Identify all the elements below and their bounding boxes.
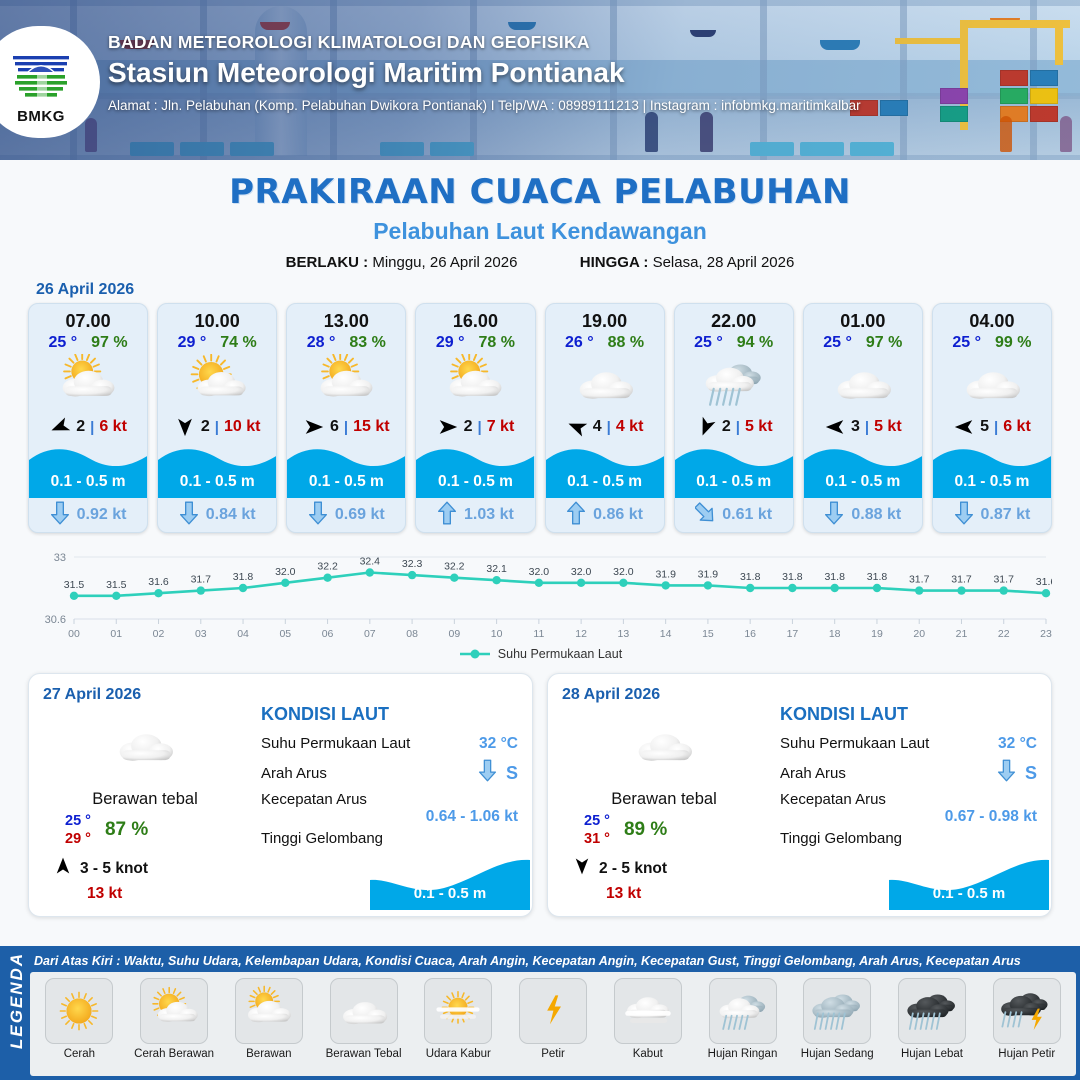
card-wave-height: 0.1 - 0.5 m: [804, 473, 922, 491]
page-subtitle: Pelabuhan Laut Kendawangan: [0, 218, 1080, 245]
sunny-icon: [45, 978, 113, 1044]
card-wave: 0.1 - 0.5 m: [158, 442, 276, 498]
svg-text:16: 16: [744, 628, 756, 640]
card-wind-speed: 2: [76, 418, 85, 436]
card-wind-speed: 3: [851, 418, 860, 436]
sea-row-label: Tinggi Gelombang: [780, 830, 902, 847]
sea-row: Tinggi Gelombang: [780, 826, 1037, 850]
current-direction-arrow-icon: [308, 500, 328, 531]
current-direction-arrow-icon: [50, 500, 70, 531]
svg-text:31.8: 31.8: [867, 571, 888, 583]
sea-row-label: Kecepatan Arus: [780, 791, 886, 808]
daily-summary-card: 28 April 2026 Berawan tebal 25 ° 31 ° 89…: [547, 673, 1052, 917]
forecast-day-label: 26 April 2026: [36, 281, 1080, 299]
wind-direction-arrow-icon: [437, 416, 459, 438]
separator: |: [865, 419, 869, 436]
card-gust: 5 kt: [874, 418, 902, 436]
svg-text:31.7: 31.7: [993, 574, 1014, 586]
sea-row-value: 0.64 - 1.06 kt: [261, 808, 518, 826]
legend-item-label: Cerah Berawan: [134, 1048, 214, 1060]
wind-direction-arrow-icon: [303, 416, 325, 438]
svg-text:31.9: 31.9: [655, 568, 676, 580]
svg-text:14: 14: [660, 628, 672, 640]
partly-cloudy-icon: [29, 354, 147, 412]
card-wave: 0.1 - 0.5 m: [546, 442, 664, 498]
daily-temp-min: 25 °: [65, 812, 91, 830]
current-direction-arrow-icon: [437, 500, 457, 531]
card-wave-height: 0.1 - 0.5 m: [546, 473, 664, 491]
legend-item-label: Cerah: [64, 1048, 95, 1060]
card-humidity: 83 %: [349, 334, 385, 352]
forecast-card: 22.00 25 ° 94 % 2 | 5 kt: [674, 303, 794, 533]
chart-legend-label: Suhu Permukaan Laut: [498, 647, 622, 661]
card-wind-speed: 2: [464, 418, 473, 436]
sea-row-label: Tinggi Gelombang: [261, 830, 383, 847]
current-direction-arrow-icon: [824, 500, 844, 531]
card-wind-speed: 2: [722, 418, 731, 436]
down-arrow-icon: [478, 758, 497, 788]
legend-item: Berawan: [221, 978, 316, 1060]
card-current-speed: 0.61 kt: [722, 506, 772, 524]
svg-text:33: 33: [54, 552, 66, 564]
svg-text:04: 04: [237, 628, 249, 640]
svg-text:20: 20: [913, 628, 925, 640]
sea-row-label: Arah Arus: [780, 765, 846, 782]
legend-item-label: Hujan Petir: [998, 1048, 1055, 1060]
svg-text:32.3: 32.3: [402, 558, 423, 570]
svg-text:03: 03: [195, 628, 207, 640]
page-title: PRAKIRAAN CUACA PELABUHAN: [0, 172, 1080, 212]
legend-item: Hujan Ringan: [695, 978, 790, 1060]
legend-note: Dari Atas Kiri : Waktu, Suhu Udara, Kele…: [30, 949, 1076, 972]
svg-text:21: 21: [956, 628, 968, 640]
legend-item-label: Hujan Sedang: [801, 1048, 874, 1060]
legend-item: Berawan Tebal: [316, 978, 411, 1060]
forecast-card-row: 07.00 25 ° 97 % 2 | 6 kt: [0, 303, 1080, 533]
svg-text:02: 02: [153, 628, 165, 640]
chart-legend: Suhu Permukaan Laut: [0, 647, 1080, 661]
card-humidity: 97 %: [866, 334, 902, 352]
validity-line: BERLAKU : Minggu, 26 April 2026 HINGGA :…: [0, 254, 1080, 271]
daily-wave: 0.1 - 0.5 m: [889, 858, 1049, 910]
legend-item-label: Udara Kabur: [426, 1048, 491, 1060]
card-wind-speed: 5: [980, 418, 989, 436]
separator: |: [607, 419, 611, 436]
svg-text:32.2: 32.2: [444, 561, 465, 573]
daily-date: 28 April 2026: [562, 686, 1037, 704]
card-temperature: 25 °: [49, 334, 78, 352]
card-humidity: 88 %: [608, 334, 644, 352]
bmkg-logo-label: BMKG: [17, 108, 65, 125]
card-wave-height: 0.1 - 0.5 m: [287, 473, 405, 491]
rain-icon: [675, 354, 793, 412]
card-gust: 4 kt: [616, 418, 644, 436]
daily-gust: 13 kt: [87, 885, 245, 903]
sea-row-label: Arah Arus: [261, 765, 327, 782]
banner-text-block: BADAN METEOROLOGI KLIMATOLOGI DAN GEOFIS…: [108, 32, 861, 113]
card-gust: 15 kt: [353, 418, 389, 436]
valid-to-value: Selasa, 28 April 2026: [653, 254, 795, 271]
org-name: BADAN METEOROLOGI KLIMATOLOGI DAN GEOFIS…: [108, 32, 861, 53]
forecast-card: 19.00 26 ° 88 % 4 | 4 kt: [545, 303, 665, 533]
svg-text:12: 12: [575, 628, 587, 640]
partly-cloudy-icon: [287, 354, 405, 412]
card-gust: 7 kt: [487, 418, 515, 436]
station-address: Alamat : Jln. Pelabuhan (Komp. Pelabuhan…: [108, 98, 861, 113]
card-humidity: 94 %: [737, 334, 773, 352]
bmkg-logo-mark: [7, 39, 75, 107]
light-rain-icon: [709, 978, 777, 1044]
svg-text:06: 06: [322, 628, 334, 640]
title-block: PRAKIRAAN CUACA PELABUHAN Pelabuhan Laut…: [0, 160, 1080, 271]
forecast-card: 13.00 28 ° 83 % 6 | 15 kt: [286, 303, 406, 533]
svg-text:08: 08: [406, 628, 418, 640]
card-current-speed: 0.92 kt: [77, 506, 127, 524]
card-current-speed: 0.87 kt: [981, 506, 1031, 524]
daily-condition: Berawan tebal: [45, 790, 245, 809]
wind-direction-arrow-icon: [53, 856, 73, 881]
svg-text:31.9: 31.9: [698, 568, 719, 580]
partly-cloudy-icon: [235, 978, 303, 1044]
sea-row-value: 32 °C: [479, 735, 518, 753]
card-wave: 0.1 - 0.5 m: [804, 442, 922, 498]
cloudy-icon: [804, 354, 922, 412]
daily-temp-min: 25 °: [584, 812, 610, 830]
svg-text:31.8: 31.8: [824, 571, 845, 583]
sea-row: Arah Arus S: [261, 758, 518, 788]
card-wave-height: 0.1 - 0.5 m: [158, 473, 276, 491]
daily-wind: 2 - 5 knot: [599, 860, 667, 878]
daily-humidity: 87 %: [105, 819, 148, 841]
card-wave: 0.1 - 0.5 m: [416, 442, 534, 498]
fog-icon: [614, 978, 682, 1044]
card-time: 04.00: [933, 304, 1051, 333]
daily-date: 27 April 2026: [43, 686, 518, 704]
card-humidity: 99 %: [995, 334, 1031, 352]
card-wave: 0.1 - 0.5 m: [933, 442, 1051, 498]
current-direction-arrow-icon: [179, 500, 199, 531]
cloudy-icon: [933, 354, 1051, 412]
svg-text:31.5: 31.5: [64, 579, 85, 591]
sea-row-label: Kecepatan Arus: [261, 791, 367, 808]
svg-text:32.1: 32.1: [486, 563, 507, 575]
card-time: 13.00: [287, 304, 405, 333]
card-wave: 0.1 - 0.5 m: [287, 442, 405, 498]
card-wave: 0.1 - 0.5 m: [29, 442, 147, 498]
sea-row: Arah Arus S: [780, 758, 1037, 788]
mostly-sunny-icon: [158, 354, 276, 412]
legend-item-label: Hujan Lebat: [901, 1048, 963, 1060]
valid-from-label: BERLAKU :: [286, 254, 369, 271]
card-time: 22.00: [675, 304, 793, 333]
legend-item: Hujan Lebat: [885, 978, 980, 1060]
forecast-card: 04.00 25 ° 99 % 5 | 6 kt: [932, 303, 1052, 533]
card-temperature: 25 °: [823, 334, 852, 352]
legend-side-tab: LEGENDA: [0, 946, 30, 1080]
cloudy-icon: [45, 716, 245, 774]
sea-row: Kecepatan Arus 0.67 - 0.98 kt: [780, 788, 1037, 826]
legend-side-label: LEGENDA: [7, 959, 27, 1049]
daily-temp-max: 29 °: [65, 830, 91, 848]
wind-direction-arrow-icon: [824, 416, 846, 438]
moderate-rain-icon: [803, 978, 871, 1044]
forecast-card: 10.00 29 ° 74 % 2 | 10 kt: [157, 303, 277, 533]
daily-summary-row: 27 April 2026 Berawan tebal 25 ° 29 ° 87…: [0, 661, 1080, 917]
card-humidity: 97 %: [91, 334, 127, 352]
card-wind-speed: 2: [201, 418, 210, 436]
cloudy-icon: [330, 978, 398, 1044]
legend-item: Petir: [506, 978, 601, 1060]
svg-text:19: 19: [871, 628, 883, 640]
sea-condition-title: KONDISI LAUT: [780, 704, 1037, 725]
svg-text:30.6: 30.6: [45, 614, 66, 626]
svg-text:13: 13: [618, 628, 630, 640]
card-time: 07.00: [29, 304, 147, 333]
thunderstorm-icon: [993, 978, 1061, 1044]
wind-direction-arrow-icon: [572, 856, 592, 881]
card-wind-speed: 4: [593, 418, 602, 436]
svg-text:22: 22: [998, 628, 1010, 640]
svg-text:10: 10: [491, 628, 503, 640]
separator: |: [344, 419, 348, 436]
card-wave-height: 0.1 - 0.5 m: [416, 473, 534, 491]
card-time: 01.00: [804, 304, 922, 333]
sea-row-label: Suhu Permukaan Laut: [780, 735, 929, 752]
svg-text:11: 11: [533, 628, 544, 640]
svg-text:32.2: 32.2: [317, 561, 338, 573]
current-direction-arrow-icon: [954, 500, 974, 531]
legend-items: Cerah Cerah Berawan Be: [30, 972, 1076, 1076]
card-humidity: 74 %: [220, 334, 256, 352]
daily-summary-card: 27 April 2026 Berawan tebal 25 ° 29 ° 87…: [28, 673, 533, 917]
svg-text:31.7: 31.7: [191, 574, 212, 586]
current-direction-arrow-icon: [566, 500, 586, 531]
sea-row: Tinggi Gelombang: [261, 826, 518, 850]
svg-text:17: 17: [787, 628, 799, 640]
sea-row-label: Suhu Permukaan Laut: [261, 735, 410, 752]
card-temperature: 26 °: [565, 334, 594, 352]
legend-item-label: Berawan: [246, 1048, 291, 1060]
legend-item-label: Berawan Tebal: [326, 1048, 402, 1060]
svg-text:07: 07: [364, 628, 376, 640]
wind-direction-arrow-icon: [174, 416, 196, 438]
sst-chart: 3330.60001020304050607080910111213141516…: [28, 545, 1052, 645]
card-gust: 6 kt: [1003, 418, 1031, 436]
card-time: 19.00: [546, 304, 664, 333]
forecast-card: 07.00 25 ° 97 % 2 | 6 kt: [28, 303, 148, 533]
card-temperature: 29 °: [436, 334, 465, 352]
mostly-sunny-icon: [140, 978, 208, 1044]
wind-direction-arrow-icon: [695, 416, 717, 438]
sea-condition-title: KONDISI LAUT: [261, 704, 518, 725]
cloudy-icon: [546, 354, 664, 412]
sea-row: Suhu Permukaan Laut 32 °C: [261, 729, 518, 758]
card-current-speed: 0.84 kt: [206, 506, 256, 524]
wind-direction-arrow-icon: [953, 416, 975, 438]
svg-text:32.0: 32.0: [529, 566, 550, 578]
card-temperature: 28 °: [307, 334, 336, 352]
chart-legend-marker: [458, 648, 492, 660]
current-direction-arrow-icon: [695, 500, 715, 531]
card-current-speed: 0.88 kt: [851, 506, 901, 524]
daily-condition: Berawan tebal: [564, 790, 764, 809]
forecast-card: 01.00 25 ° 97 % 3 | 5 kt: [803, 303, 923, 533]
card-wave-height: 0.1 - 0.5 m: [675, 473, 793, 491]
svg-text:31.8: 31.8: [782, 571, 803, 583]
daily-wave: 0.1 - 0.5 m: [370, 858, 530, 910]
svg-text:01: 01: [110, 628, 122, 640]
card-current-speed: 1.03 kt: [464, 506, 514, 524]
card-wave-height: 0.1 - 0.5 m: [29, 473, 147, 491]
svg-text:31.6: 31.6: [148, 576, 169, 588]
down-arrow-icon: [997, 758, 1016, 788]
card-wave-height: 0.1 - 0.5 m: [933, 473, 1051, 491]
legend-item: Cerah: [32, 978, 127, 1060]
svg-text:18: 18: [829, 628, 841, 640]
svg-text:31.8: 31.8: [740, 571, 761, 583]
forecast-card: 16.00 29 ° 78 % 2 | 7 kt: [415, 303, 535, 533]
lightning-icon: [519, 978, 587, 1044]
sea-row-value: 32 °C: [998, 735, 1037, 753]
sea-row-value: 0.67 - 0.98 kt: [780, 808, 1037, 826]
sea-row: Kecepatan Arus 0.64 - 1.06 kt: [261, 788, 518, 826]
cloudy-icon: [564, 716, 764, 774]
sea-row-value: S: [1025, 763, 1037, 784]
legend-strip: LEGENDA Dari Atas Kiri : Waktu, Suhu Uda…: [0, 946, 1080, 1080]
station-name: Stasiun Meteorologi Maritim Pontianak: [108, 57, 861, 89]
svg-text:00: 00: [68, 628, 80, 640]
legend-item: Hujan Sedang: [790, 978, 885, 1060]
card-time: 10.00: [158, 304, 276, 333]
svg-text:32.4: 32.4: [360, 556, 381, 568]
card-gust: 5 kt: [745, 418, 773, 436]
wind-direction-arrow-icon: [566, 416, 588, 438]
separator: |: [994, 419, 998, 436]
card-gust: 6 kt: [99, 418, 127, 436]
valid-to-label: HINGGA :: [580, 254, 649, 271]
legend-item: Udara Kabur: [411, 978, 506, 1060]
svg-text:31.7: 31.7: [909, 574, 930, 586]
haze-icon: [424, 978, 492, 1044]
card-wave: 0.1 - 0.5 m: [675, 442, 793, 498]
daily-temp-max: 31 °: [584, 830, 610, 848]
svg-text:31.7: 31.7: [951, 574, 972, 586]
daily-wind: 3 - 5 knot: [80, 860, 148, 878]
separator: |: [736, 419, 740, 436]
svg-text:31.6: 31.6: [1036, 576, 1052, 588]
separator: |: [478, 419, 482, 436]
card-gust: 10 kt: [224, 418, 260, 436]
svg-text:05: 05: [279, 628, 291, 640]
legend-item: Hujan Petir: [979, 978, 1074, 1060]
card-wind-speed: 6: [330, 418, 339, 436]
daily-wave-height: 0.1 - 0.5 m: [370, 885, 530, 902]
card-current-speed: 0.69 kt: [335, 506, 385, 524]
daily-humidity: 89 %: [624, 819, 667, 841]
sea-row-value: S: [506, 763, 518, 784]
card-temperature: 25 °: [694, 334, 723, 352]
separator: |: [90, 419, 94, 436]
card-current-speed: 0.86 kt: [593, 506, 643, 524]
svg-text:31.8: 31.8: [233, 571, 254, 583]
legend-item-label: Petir: [541, 1048, 565, 1060]
header-banner: BMKG BADAN METEOROLOGI KLIMATOLOGI DAN G…: [0, 0, 1080, 160]
card-time: 16.00: [416, 304, 534, 333]
card-humidity: 78 %: [479, 334, 515, 352]
separator: |: [215, 419, 219, 436]
svg-text:15: 15: [702, 628, 714, 640]
svg-text:09: 09: [449, 628, 461, 640]
svg-text:31.5: 31.5: [106, 579, 127, 591]
heavy-rain-icon: [898, 978, 966, 1044]
wind-direction-arrow-icon: [49, 416, 71, 438]
card-temperature: 25 °: [952, 334, 981, 352]
svg-text:32.0: 32.0: [613, 566, 634, 578]
card-temperature: 29 °: [178, 334, 207, 352]
partly-cloudy-icon: [416, 354, 534, 412]
svg-text:32.0: 32.0: [275, 566, 296, 578]
sea-row: Suhu Permukaan Laut 32 °C: [780, 729, 1037, 758]
daily-wave-height: 0.1 - 0.5 m: [889, 885, 1049, 902]
legend-item: Kabut: [600, 978, 695, 1060]
valid-from-value: Minggu, 26 April 2026: [372, 254, 517, 271]
daily-gust: 13 kt: [606, 885, 764, 903]
svg-text:23: 23: [1040, 628, 1052, 640]
svg-text:32.0: 32.0: [571, 566, 592, 578]
legend-item-label: Kabut: [633, 1048, 663, 1060]
legend-item: Cerah Berawan: [127, 978, 222, 1060]
legend-item-label: Hujan Ringan: [708, 1048, 778, 1060]
